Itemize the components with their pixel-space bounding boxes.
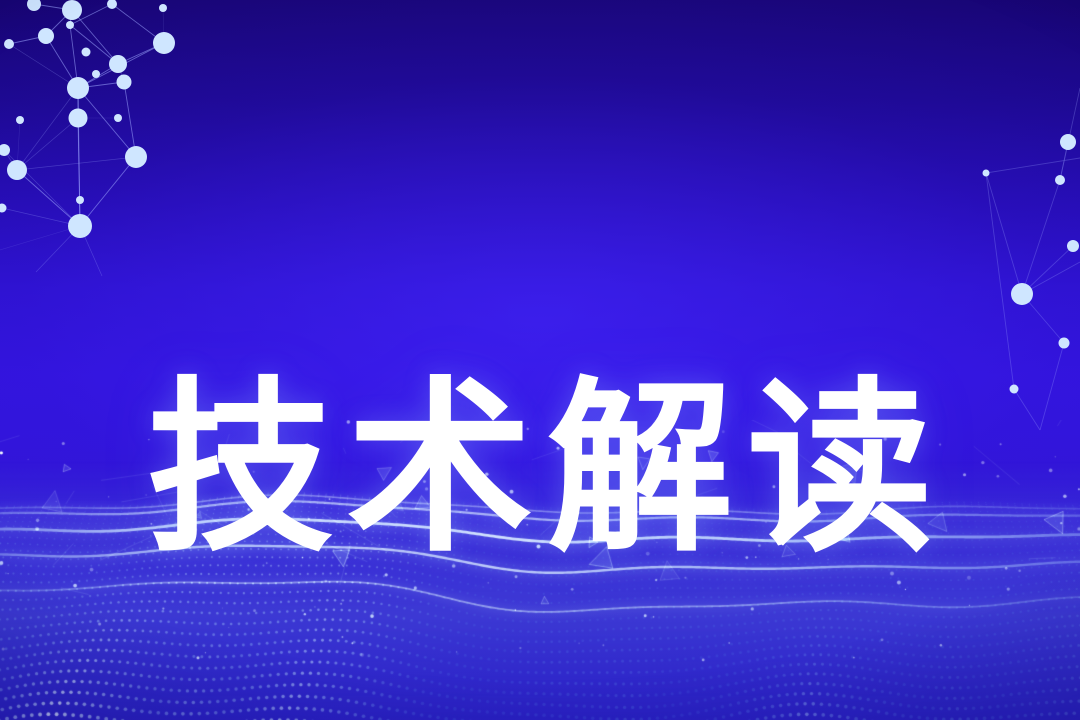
page-title: 技术解读: [0, 377, 1080, 563]
tech-banner: 技术解读: [0, 0, 1080, 720]
background-vignette: [0, 0, 1080, 720]
